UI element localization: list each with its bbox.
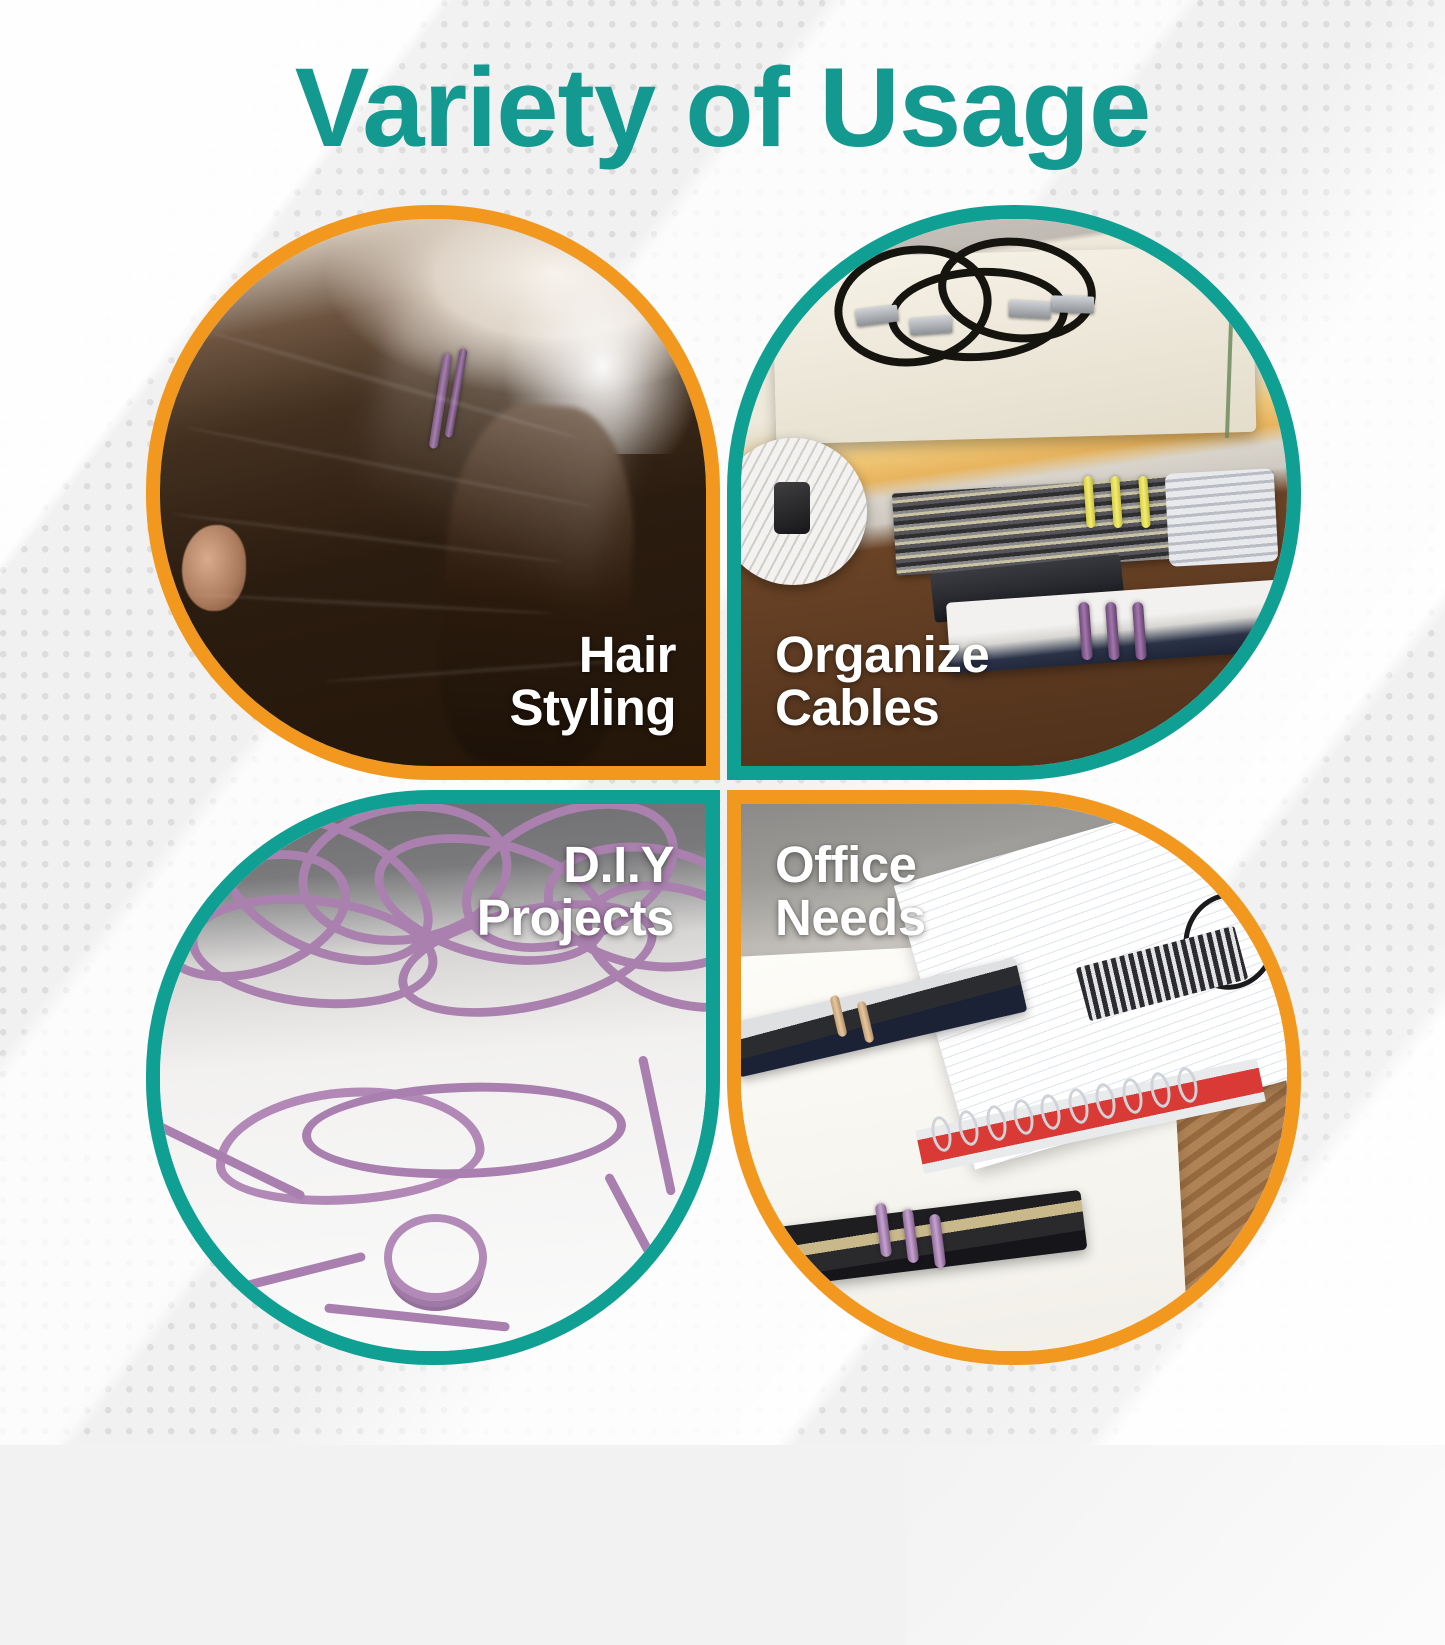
petal-hair-styling[interactable]: Hair Styling [146,205,720,780]
charger-connector [774,482,810,534]
page-title: Variety of Usage [0,52,1445,164]
petal-organize-cables-frame: Organize Cables [727,205,1301,780]
petal-office-needs-frame: Office Needs [727,790,1301,1365]
petal-office-needs-caption: Office Needs [775,838,926,944]
pencil-tips [1165,468,1279,567]
ear [182,525,246,611]
rubber-band-strand [324,1303,510,1331]
usage-petal-grid: Hair Styling [146,205,1301,1365]
petal-hair-styling-caption: Hair Styling [509,628,676,734]
rubber-band-strand [183,1252,365,1306]
petal-diy-projects-frame: D.I.Y Projects [146,790,720,1365]
usb-connector [1052,295,1095,313]
petal-organize-cables-caption: Organize Cables [775,628,989,734]
petal-office-needs[interactable]: Office Needs [727,790,1301,1365]
usb-connector [910,316,953,336]
usb-connector [1008,300,1051,319]
petal-organize-cables[interactable]: Organize Cables [727,205,1301,780]
rubber-band-strand [638,1055,676,1196]
coiled-rubber-band [384,1214,487,1301]
petal-diy-projects-caption: D.I.Y Projects [477,838,674,944]
rubber-band-strand [604,1172,689,1321]
petal-diy-projects[interactable]: D.I.Y Projects [146,790,720,1365]
petal-hair-styling-frame: Hair Styling [146,205,720,780]
